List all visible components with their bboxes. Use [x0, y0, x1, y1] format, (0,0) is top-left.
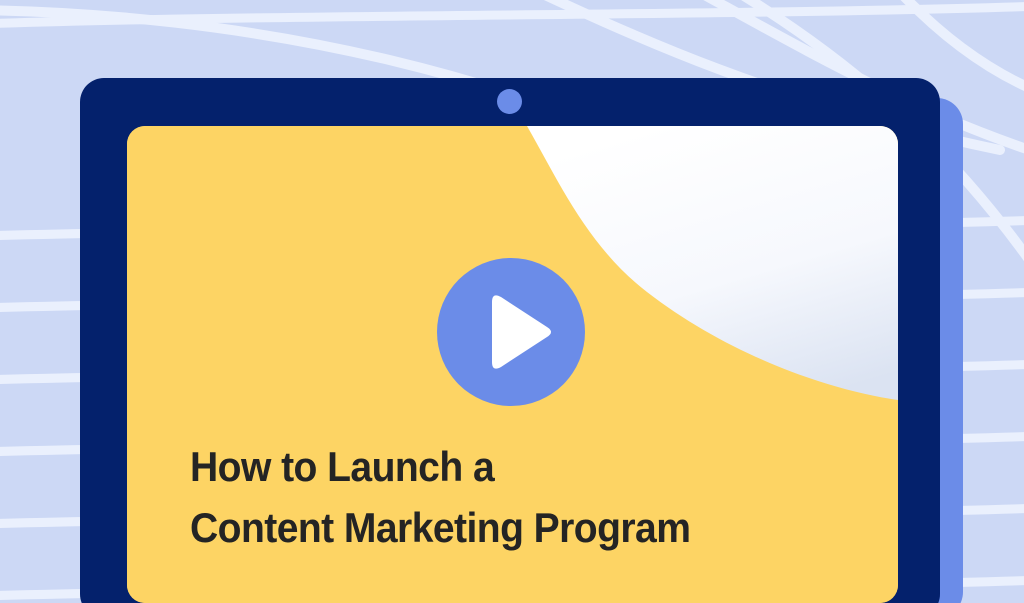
tablet-screen: How to Launch a Content Marketing Progra…: [127, 126, 898, 603]
headline-line-2: Content Marketing Program: [190, 497, 841, 558]
video-thumbnail-scene: How to Launch a Content Marketing Progra…: [0, 0, 1024, 603]
camera-dot-icon: [497, 89, 522, 114]
play-icon: [437, 258, 585, 406]
play-button[interactable]: [437, 258, 585, 406]
headline-line-1: How to Launch a: [190, 436, 841, 497]
headline: How to Launch a Content Marketing Progra…: [190, 436, 841, 558]
